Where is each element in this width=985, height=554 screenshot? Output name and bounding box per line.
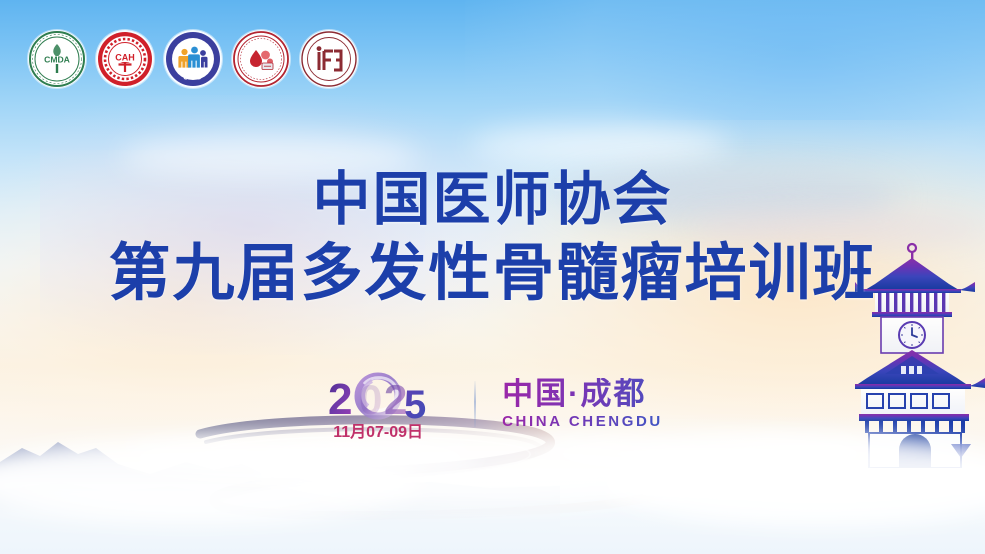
svg-text:CMG: CMG (183, 75, 202, 82)
cloud-wisp (470, 125, 730, 165)
year-2025-logo: 2 5 0 2 11月07-09日 (322, 368, 448, 440)
svg-text:CAH: CAH (115, 53, 135, 63)
city-name-en: CHINA CHENGDU (502, 413, 663, 430)
event-location: 中国·成都 CHINA CHENGDU (502, 378, 663, 431)
cloud-wisp (560, 170, 900, 224)
svg-text:2: 2 (328, 375, 352, 424)
city-name-cn: 中国·成都 (502, 378, 663, 411)
sky-wash-lilac (40, 95, 560, 355)
cmg-seal-icon: CMG (164, 30, 222, 88)
svg-text:2: 2 (384, 376, 407, 423)
peking-hematology-seal-icon (300, 30, 358, 88)
cloud-blue-tint (0, 496, 985, 554)
footer-divider (474, 381, 476, 427)
poster-title: 中国医师协会 第九届多发性骨髓瘤培训班 (0, 168, 985, 308)
cmda-seal-icon: CMDA (28, 30, 86, 88)
cloud-base-fade (0, 458, 985, 554)
cloud-puff (600, 434, 985, 526)
event-date: 11月07-09日 (322, 418, 434, 442)
cloud-wisp (120, 135, 420, 179)
sky-wash-blue (465, 0, 985, 260)
event-details: 2 5 0 2 11月07-09日 中国·成都 CHINA CHENGDU (0, 368, 985, 440)
cloud-puff (250, 432, 720, 508)
svg-text:CMDA: CMDA (44, 55, 70, 65)
cloud-puff (0, 438, 420, 524)
organisation-logo-strip: CMDA CAH (28, 30, 358, 88)
conference-poster: CMDA CAH (0, 0, 985, 554)
svg-text:0: 0 (359, 376, 382, 423)
title-line-1: 中国医师协会 (0, 168, 985, 233)
cah-seal-icon: CAH (96, 30, 154, 88)
title-line-2: 第九届多发性骨髓瘤培训班 (0, 239, 985, 308)
cloud-wisp (690, 210, 985, 248)
blood-drop-seal-icon (232, 30, 290, 88)
